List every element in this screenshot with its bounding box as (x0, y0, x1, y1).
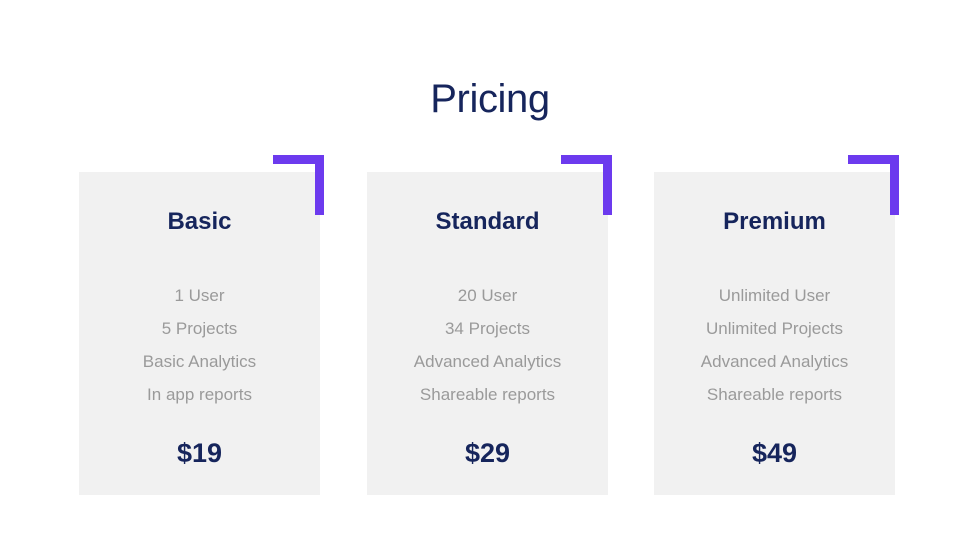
corner-bracket-icon (848, 155, 899, 215)
feature-item: Shareable reports (367, 378, 608, 411)
corner-bracket-horizontal-arm (561, 155, 612, 164)
feature-item: Advanced Analytics (654, 345, 895, 378)
feature-item: 5 Projects (79, 312, 320, 345)
plan-name: Standard (367, 208, 608, 237)
feature-item: 34 Projects (367, 312, 608, 345)
corner-bracket-vertical-arm (890, 155, 899, 215)
corner-bracket-horizontal-arm (273, 155, 324, 164)
feature-item: Basic Analytics (79, 345, 320, 378)
feature-item: Unlimited User (654, 279, 895, 312)
feature-item: 1 User (79, 279, 320, 312)
feature-item: Advanced Analytics (367, 345, 608, 378)
feature-list: 20 User34 ProjectsAdvanced AnalyticsShar… (367, 279, 608, 411)
corner-bracket-icon (273, 155, 324, 215)
plan-price: $49 (654, 437, 895, 469)
pricing-card-basic[interactable]: Basic1 User5 ProjectsBasic AnalyticsIn a… (79, 172, 320, 495)
feature-item: In app reports (79, 378, 320, 411)
feature-list: 1 User5 ProjectsBasic AnalyticsIn app re… (79, 279, 320, 411)
corner-bracket-vertical-arm (603, 155, 612, 215)
plan-name: Premium (654, 208, 895, 237)
pricing-card-premium[interactable]: PremiumUnlimited UserUnlimited ProjectsA… (654, 172, 895, 495)
feature-item: Unlimited Projects (654, 312, 895, 345)
plan-name: Basic (79, 208, 320, 237)
corner-bracket-icon (561, 155, 612, 215)
plan-price: $29 (367, 437, 608, 469)
feature-item: Shareable reports (654, 378, 895, 411)
feature-item: 20 User (367, 279, 608, 312)
corner-bracket-horizontal-arm (848, 155, 899, 164)
plan-price: $19 (79, 437, 320, 469)
corner-bracket-vertical-arm (315, 155, 324, 215)
feature-list: Unlimited UserUnlimited ProjectsAdvanced… (654, 279, 895, 411)
pricing-card-list: Basic1 User5 ProjectsBasic AnalyticsIn a… (0, 0, 980, 551)
pricing-card-standard[interactable]: Standard20 User34 ProjectsAdvanced Analy… (367, 172, 608, 495)
